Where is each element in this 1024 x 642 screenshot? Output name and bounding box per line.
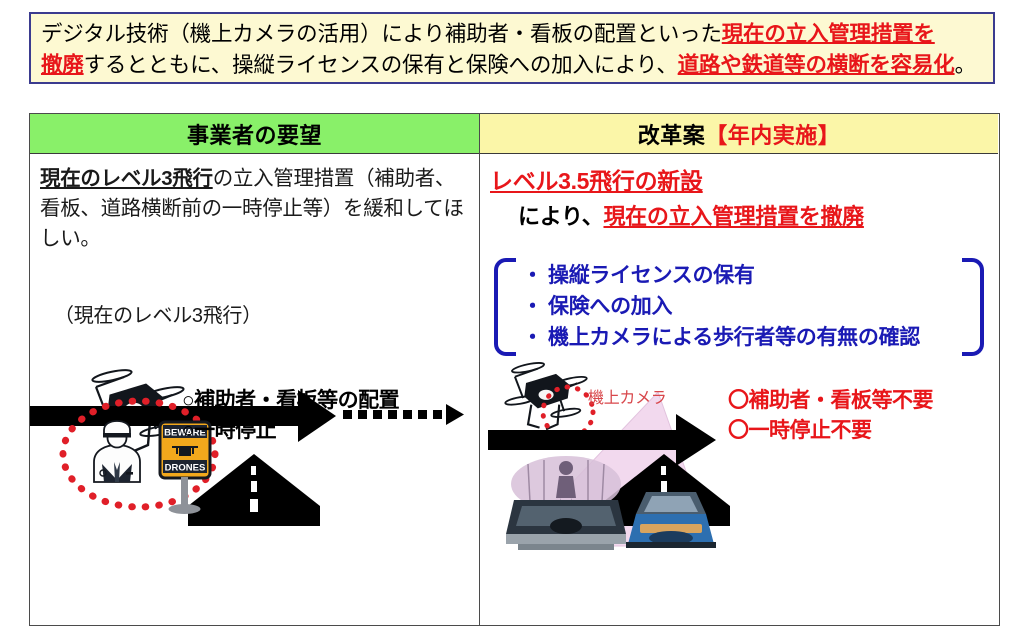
right-column-header-label: 改革案 [638, 118, 706, 150]
guard-person-icon [94, 421, 140, 482]
header-line-2: 撤廃するとともに、操縦ライセンスの保有と保険への加入により、道路や鉄道等の横断を… [41, 50, 983, 81]
right-bullet-1: 〇一時停止不要 [728, 416, 933, 446]
left-illustration: BEWARE DRONES ○補助者・看板等の [30, 154, 479, 625]
right-bullet-0: 〇補助者・看板等不要 [728, 386, 933, 416]
left-bullet-0: ○補助者・看板等の配置 [182, 386, 399, 416]
left-bullet-list: ○補助者・看板等の配置 ○一時停止 [182, 386, 399, 446]
drone-icon [505, 361, 588, 429]
left-bullet-1: ○一時停止 [182, 416, 399, 446]
left-column-body: 現在のレベル3飛行の立入管理措置（補助者、看板、道路横断前の一時停止等）を緩和し… [30, 154, 479, 625]
header-line-1: デジタル技術（機上カメラの活用）により補助者・看板の配置といった現在の立入管理措… [41, 19, 983, 50]
header-callout-box: デジタル技術（機上カメラの活用）により補助者・看板の配置といった現在の立入管理措… [29, 12, 995, 84]
left-column-header: 事業者の要望 [30, 114, 479, 154]
header-text-highlight-3: 道路や鉄道等の横断を容易化 [678, 53, 955, 77]
column-operator-request: 事業者の要望 現在のレベル3飛行の立入管理措置（補助者、看板、道路横断前の一時停… [30, 114, 480, 625]
left-column-header-label: 事業者の要望 [187, 118, 322, 150]
header-text-period: 。 [955, 53, 976, 77]
column-reform-plan: 改革案【年内実施】 レベル3.5飛行の新設 により、現在の立入管理措置を撤廃 ・… [480, 114, 998, 625]
comparison-table: 事業者の要望 現在のレベル3飛行の立入管理措置（補助者、看板、道路横断前の一時停… [29, 113, 1000, 626]
right-bullet-list: 〇補助者・看板等不要 〇一時停止不要 [728, 386, 933, 446]
header-text-plain-b: するとともに、操縦ライセンスの保有と保険への加入により、 [84, 53, 678, 77]
header-text-plain-a: デジタル技術（機上カメラの活用）により補助者・看板の配置といった [41, 22, 722, 46]
right-illustration: 機上カメラ 〇補助者・看板等不要 〇一時停止不要 [480, 154, 998, 625]
sign-bottom-text: DRONES [165, 463, 206, 474]
right-column-header-badge: 【年内実施】 [705, 118, 840, 150]
right-column-header: 改革案【年内実施】 [480, 114, 998, 154]
header-text-highlight-2: 撤廃 [41, 53, 84, 77]
right-column-body: レベル3.5飛行の新設 により、現在の立入管理措置を撤廃 ・操縦ライセンスの保有… [480, 154, 998, 625]
header-text-highlight-1: 現在の立入管理措置を [722, 22, 935, 46]
camera-label: 機上カメラ [588, 384, 667, 408]
pedestrian-group [506, 456, 626, 550]
